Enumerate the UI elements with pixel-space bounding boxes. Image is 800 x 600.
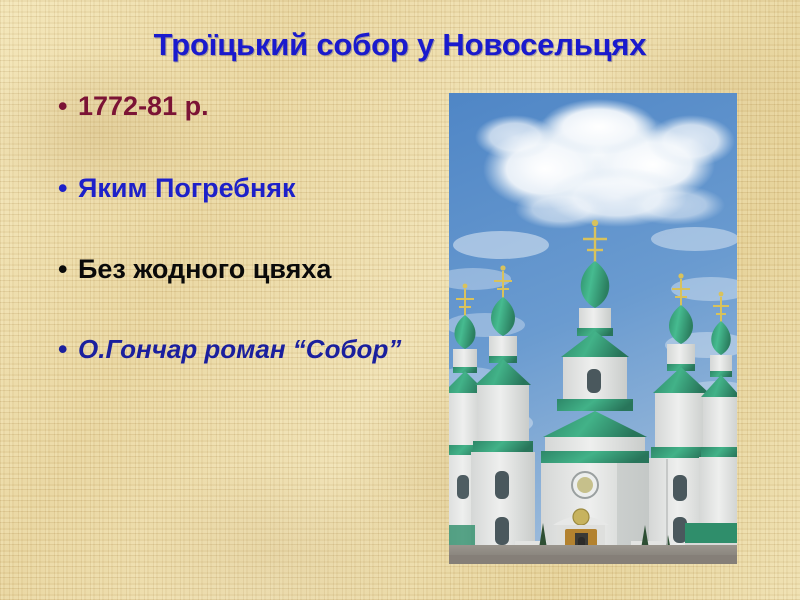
bullet-text: Без жодного цвяха bbox=[78, 255, 423, 285]
list-item: • О.Гончар роман “Собор” bbox=[58, 335, 423, 364]
bullet-marker-icon: • bbox=[58, 174, 78, 202]
bullet-text: 1772-81 р. bbox=[78, 92, 423, 122]
bullet-marker-icon: • bbox=[58, 92, 78, 120]
cathedral-illustration bbox=[449, 93, 737, 564]
list-item: • Без жодного цвяха bbox=[58, 255, 423, 285]
bullet-list: • 1772-81 р. • Яким Погребняк • Без жодн… bbox=[58, 92, 423, 364]
bullet-text: О.Гончар роман “Собор” bbox=[78, 335, 423, 364]
bullet-marker-icon: • bbox=[58, 335, 78, 363]
list-item: • 1772-81 р. bbox=[58, 92, 423, 122]
page-title: Троїцький собор у Новосельцях bbox=[0, 27, 800, 63]
bullet-text: Яким Погребняк bbox=[78, 174, 423, 204]
bullet-marker-icon: • bbox=[58, 255, 78, 283]
list-item: • Яким Погребняк bbox=[58, 174, 423, 204]
cathedral-photo bbox=[449, 93, 737, 564]
slide-canvas: Троїцький собор у Новосельцях • 1772-81 … bbox=[0, 0, 800, 600]
